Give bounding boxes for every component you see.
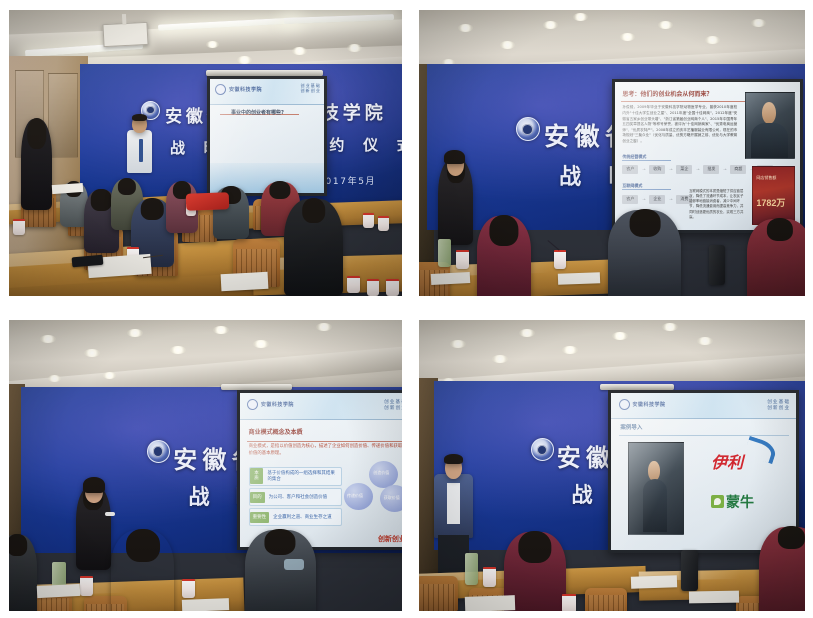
ceiling-spotlight — [237, 56, 252, 64]
ceiling-projector — [103, 22, 149, 48]
slide-title: 安徽科技学院 创 业 基 础 创 新 创 业 事业中的创业者有哪些? — [210, 79, 324, 193]
slide-footer: 创新创业 — [378, 534, 402, 544]
paper-cup — [367, 279, 380, 296]
slide-body: 商业模式，是指以价值创造为核心，描述了企业如何创造价值、传递价值和获取价值的基本… — [249, 444, 402, 458]
water-bottle — [438, 239, 450, 268]
university-emblem-icon — [147, 440, 170, 463]
brand-yili-label: 伊利 — [711, 449, 743, 473]
arrow-icon: → — [641, 196, 646, 202]
paper-cup — [80, 576, 93, 595]
arrow-icon: → — [695, 166, 700, 172]
photo-collage: 安徽省 科技学院 战 略 签 约 仪 式 2017年5月 安徽科技学院 — [0, 0, 813, 618]
badge-number: 1782万 — [756, 196, 785, 209]
flow-node: 农户 — [622, 165, 638, 174]
flow-node: 菜企 — [676, 165, 692, 174]
projection-screen: 思考：他们的创业机会从何而来？ 孙俊毅，2009年毕业于安徽科技学院动物医学专业… — [615, 82, 800, 231]
corner-line-2: 创 新 创 业 — [767, 405, 789, 411]
slide-title: 案例导入 — [620, 423, 642, 431]
photo-bottom-left[interactable]: 安徽省 战 略 安徽科技学院 创 业 基 础 创 新 创 业 — [9, 320, 402, 611]
chair — [585, 588, 627, 611]
flow-node: 商超 — [730, 165, 746, 174]
slide-corner-mark: 创 业 基 础 创 新 创 业 — [384, 399, 402, 410]
badge-caption: 网店销售额 — [756, 175, 776, 181]
slide-case-study: 安徽科技学院 创 业 基 础 创 新 创 业 案例导入 伊利 — [611, 393, 796, 550]
flow-internet: 农户 → 企业 → 消费 — [622, 195, 692, 204]
paper-cup — [13, 219, 25, 235]
attendee — [759, 527, 805, 611]
ceiling-spotlight — [519, 329, 535, 337]
attendee — [245, 530, 316, 611]
projection-screen: 安徽科技学院 创 业 基 础 创 新 创 业 案例导入 伊利 — [611, 393, 796, 550]
slide-logo: 安徽科技学院 — [619, 399, 666, 410]
thermos — [709, 245, 725, 285]
face-mask — [284, 559, 304, 571]
slide-logo-text: 安徽科技学院 — [633, 401, 666, 408]
venn-label: 传递价值 — [347, 493, 363, 499]
slide-business-model: 安徽科技学院 创 业 基 础 创 新 创 业 商业模式概念及本质 商业模式，是指… — [240, 393, 402, 547]
corner-line-1: 创 业 基 础 — [767, 399, 789, 405]
attendee — [477, 216, 531, 296]
document — [221, 272, 269, 292]
slide-logo: 安徽科技学院 — [215, 84, 262, 95]
arrow-icon: → — [641, 166, 646, 172]
paper-cup — [363, 213, 374, 228]
slide-subtitle: 事业中的创业者有哪些? — [231, 109, 284, 116]
ceiling-spotlight — [612, 332, 628, 340]
bullet-text: 基于价值构成的一组选择和其结果的集合 — [267, 470, 341, 482]
arrow-icon: → — [668, 196, 673, 202]
ceiling-spotlight — [316, 323, 332, 331]
slide-logo: 安徽科技学院 — [247, 399, 294, 410]
presenter-shirt — [447, 483, 460, 524]
document — [558, 272, 601, 285]
document — [631, 575, 678, 588]
attendee — [747, 219, 805, 296]
paper-cup — [562, 594, 576, 611]
slide-corner-mark: 创 业 基 础 创 新 创 业 — [767, 399, 789, 410]
university-emblem-icon — [516, 117, 540, 141]
presenter-hair — [132, 114, 146, 121]
presenter-hair — [444, 454, 463, 464]
attendee — [9, 535, 37, 611]
logo-ring-icon — [619, 399, 630, 410]
slide-title: 商业模式概念及本质 — [249, 427, 303, 436]
document — [465, 596, 516, 611]
ceiling-spotlight — [662, 323, 678, 331]
presenter-hair — [83, 477, 105, 493]
bullet-text: 企业赢利之道、商业生存之道 — [273, 514, 335, 520]
ceiling-spotlight — [40, 335, 56, 343]
ceiling-spotlight — [127, 329, 143, 337]
slide-logo-text: 安徽科技学院 — [229, 86, 262, 93]
flow-label-1: 传统经营模式 — [622, 154, 646, 160]
bullet-text: 为公司、客户和社会创造价值 — [269, 494, 331, 500]
paper-cup — [483, 567, 496, 586]
document — [689, 590, 739, 602]
slide-logo-text: 安徽科技学院 — [261, 401, 294, 408]
flow-node: 企业 — [649, 195, 665, 204]
ceiling-spotlight — [751, 19, 766, 27]
paper-cup — [182, 579, 195, 598]
necktie — [139, 139, 143, 162]
ceiling-spotlight — [84, 349, 100, 357]
attendee — [111, 530, 174, 611]
arrow-icon: → — [722, 166, 727, 172]
flow-traditional: 农户 → 收购 → 菜企 → 批发 → 商超 → 消费 — [622, 165, 773, 174]
bullet-tag: 重要性 — [250, 512, 270, 523]
projection-screen: 安徽科技学院 创 业 基 础 创 新 创 业 商业模式概念及本质 商业模式，是指… — [240, 393, 402, 547]
bullet-tag: 本质 — [250, 468, 264, 484]
attendee — [284, 199, 343, 296]
projection-screen-frame[interactable]: 安徽科技学院 创 业 基 础 创 新 创 业 商业模式概念及本质 商业模式，是指… — [237, 390, 402, 550]
slide-body: 孙俊毅，2009年毕业于安徽科技学院动物医学专业，曾获2010年度校内外"十佳大… — [622, 105, 737, 144]
projection-screen-frame[interactable]: 安徽科技学院 创 业 基 础 创 新 创 业 案例导入 伊利 — [608, 390, 799, 553]
water-bottle — [465, 553, 478, 585]
projection-screen-frame[interactable]: 安徽科技学院 创 业 基 础 创 新 创 业 事业中的创业者有哪些? — [207, 76, 327, 196]
ceiling-spotlight — [213, 326, 229, 334]
document — [36, 584, 80, 598]
brand-mengniu-label: 蒙牛 — [726, 492, 754, 512]
presenter-hair — [444, 150, 465, 164]
logo-ring-icon — [215, 84, 226, 95]
ceiling-spotlight — [620, 33, 635, 41]
attendee — [21, 119, 52, 211]
slide-thinking: 思考：他们的创业机会从何而来？ 孙俊毅，2009年毕业于安徽科技学院动物医学专业… — [615, 82, 800, 231]
corner-line-2: 创 新 创 业 — [301, 88, 320, 93]
corner-line-2: 创 新 创 业 — [384, 405, 402, 411]
thermos — [681, 550, 698, 591]
document — [182, 599, 230, 611]
bullet-tag: 目的 — [250, 492, 265, 503]
photo-top-right[interactable]: 安徽省 战 略 思考：他们的创业机会从何而来？ 孙俊毅，2009年毕业于安徽科技… — [419, 10, 805, 296]
ceiling-spotlight — [705, 36, 720, 44]
slide-title: 思考：他们的创业机会从何而来？ — [622, 89, 712, 98]
logo-ring-icon — [247, 399, 258, 410]
paper-cup — [347, 276, 360, 293]
paper-cup — [386, 279, 399, 296]
chair — [419, 576, 458, 611]
entrepreneur-photo — [745, 92, 795, 159]
projection-screen: 安徽科技学院 创 业 基 础 创 新 创 业 事业中的创业者有哪些? — [210, 79, 324, 193]
paper-cup — [378, 216, 389, 231]
document — [430, 272, 469, 285]
flow-node: 农户 — [622, 195, 638, 204]
red-bag — [186, 192, 230, 211]
flow-node: 批发 — [703, 165, 719, 174]
bullet-item: 重要性 企业赢利之道、商业生存之道 — [249, 508, 343, 525]
corner-line-1: 创 业 基 础 — [384, 399, 402, 405]
pen — [548, 240, 560, 251]
slide-corner-mark: 创 业 基 础 创 新 创 业 — [301, 83, 320, 93]
paper-cup — [554, 250, 566, 269]
venn-label: 获取价值 — [384, 495, 400, 501]
venn-label: 创造价值 — [373, 470, 389, 476]
bullet-item: 本质 基于价值构成的一组选择和其结果的集合 — [249, 467, 343, 486]
paper-cup — [456, 250, 469, 269]
slide-side-note: 互联网模式的本质是缩短了供应链层次，降低了流通环节成本，让农民子能够率地链接消费… — [689, 189, 745, 221]
bullet-item: 目的 为公司、客户和社会创造价值 — [249, 488, 343, 505]
sales-badge: 网店销售额 1782万 — [752, 166, 795, 225]
university-emblem-icon — [531, 438, 554, 461]
photo-bottom-right[interactable]: 安徽省 战 略 安徽科技学院 创 业 基 础 创 新 创 业 — [419, 320, 805, 611]
case-photo — [628, 442, 684, 535]
clicker — [105, 512, 115, 516]
wall-panel — [48, 73, 78, 158]
photo-top-left[interactable]: 安徽省 科技学院 战 略 签 约 仪 式 2017年5月 安徽科技学院 — [9, 10, 402, 296]
venn-diagram: 创造价值 传递价值 获取价值 — [344, 461, 402, 532]
attendee — [608, 210, 681, 296]
leaf-icon — [711, 495, 724, 508]
flow-node: 收购 — [649, 165, 665, 174]
swoosh-icon — [744, 436, 779, 464]
arrow-icon: → — [668, 166, 673, 172]
